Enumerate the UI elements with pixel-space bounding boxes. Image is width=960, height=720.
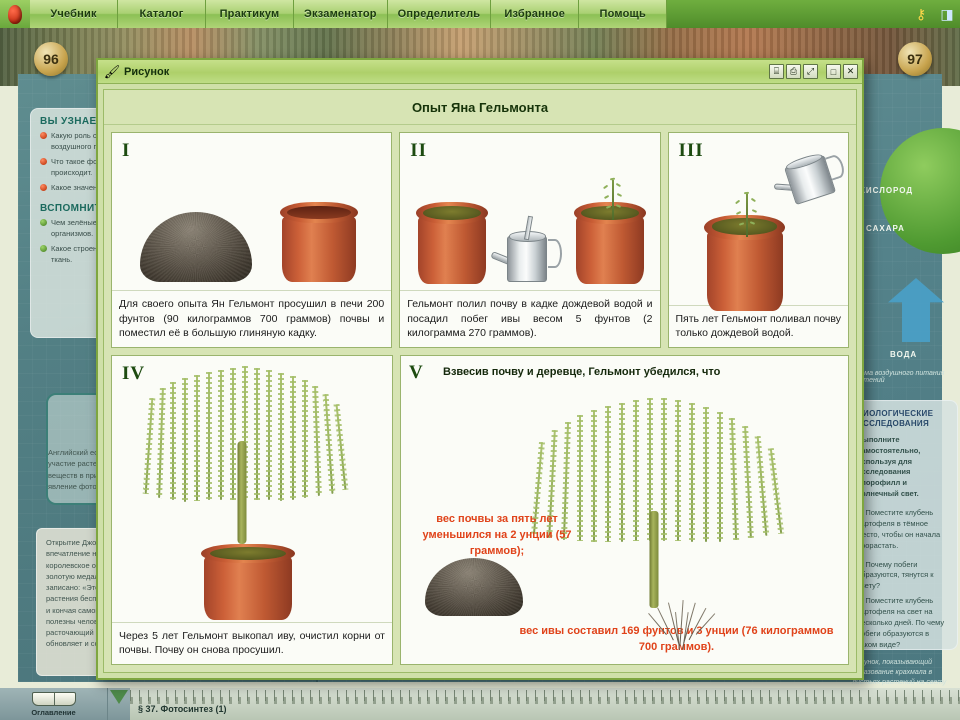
maximize-button[interactable]: □ <box>826 64 841 79</box>
can-handle <box>548 239 562 269</box>
soil-mound-icon <box>140 212 252 282</box>
dialog-title: Рисунок <box>124 66 767 78</box>
bullet-icon <box>40 219 47 226</box>
page-marker[interactable] <box>108 688 130 720</box>
sprout-leaf <box>738 222 743 225</box>
bottom-toolbar: Оглавление § 37. Фотосинтез (1) <box>0 688 960 720</box>
marker-triangle-icon <box>110 690 128 704</box>
sprout-stem <box>746 193 748 237</box>
panel-row-top: I Для своего опыта Ян Гельмонт просушил … <box>111 132 849 348</box>
panel-V-red-left-text: вес почвы за пять лет уменьшился на 2 ун… <box>409 512 585 560</box>
section-label: § 37. Фотосинтез (1) <box>138 704 227 714</box>
pot-soil <box>210 547 286 560</box>
diagram-label-water: ВОДА <box>890 350 917 359</box>
nav-identifier[interactable]: Определитель <box>388 0 492 28</box>
page-number-right: 97 <box>898 42 932 76</box>
sprout-leaf <box>604 195 609 199</box>
willow-canopy <box>136 366 366 491</box>
willow-trunk <box>237 441 246 544</box>
nav-filler <box>667 0 908 28</box>
panel-IV-text: Через 5 лет Гельмонт выкопал иву, очисти… <box>112 622 392 664</box>
panel-numeral: V <box>409 362 443 384</box>
panel-III-text: Пять лет Гельмонт поливал почву только д… <box>669 305 849 347</box>
table-of-contents-button[interactable]: Оглавление <box>0 688 108 720</box>
panel-II: II <box>399 132 660 348</box>
sprout-leaf <box>616 183 621 187</box>
pot-body <box>707 232 783 311</box>
panel-IV: IV <box>111 355 393 665</box>
experiment-panels: I Для своего опыта Ян Гельмонт просушил … <box>111 132 849 665</box>
pot-body <box>576 217 644 284</box>
panel-V-illustration: вес почвы за пять лет уменьшился на 2 ун… <box>401 384 848 622</box>
willow-trunk <box>650 511 659 608</box>
sprout-leaf <box>749 221 754 224</box>
diagram-label-oxygen: КИСЛОРОД <box>860 186 913 195</box>
clay-pot-icon <box>282 202 356 282</box>
page-number-left: 96 <box>34 42 68 76</box>
clay-pot-with-willow-icon <box>576 202 644 284</box>
bullet-icon <box>40 184 47 191</box>
bullet-icon <box>40 132 47 139</box>
research-box: БИОЛОГИЧЕСКИЕ ИССЛЕДОВАНИЯ Выполните сам… <box>848 400 958 650</box>
watering-can-icon <box>765 132 849 211</box>
panel-I-text: Для своего опыта Ян Гельмонт просушил в … <box>112 290 391 347</box>
panel-III: III <box>668 132 850 348</box>
nav-textbook[interactable]: Учебник <box>30 0 118 28</box>
pot-inner <box>287 206 351 220</box>
panel-II-illustration <box>400 133 659 290</box>
book-icon <box>32 692 76 706</box>
sprout-leaf <box>735 211 740 215</box>
panel-V-heading: Взвесив почву и деревце, Гельмонт убедил… <box>443 362 720 378</box>
panel-V-header: V Взвесив почву и деревце, Гельмонт убед… <box>401 356 848 384</box>
page-ruler[interactable]: § 37. Фотосинтез (1) <box>130 688 960 720</box>
page-title: Опыт Яна Гельмонта <box>104 90 856 125</box>
sprout-leaf <box>603 185 608 189</box>
willow-tree-with-roots-icon <box>529 398 801 608</box>
panel-I: I Для своего опыта Ян Гельмонт просушил … <box>111 132 392 348</box>
exit-icon[interactable]: ◨ <box>934 0 960 28</box>
fullscreen-button[interactable]: ⤢ <box>803 64 818 79</box>
sprout-leaf <box>750 197 755 201</box>
sprout-leaf <box>617 193 622 197</box>
willow-sprout-icon <box>600 180 626 220</box>
soil-mound-icon <box>425 558 523 616</box>
sprout-stem <box>612 180 614 220</box>
sprout-leaf <box>743 191 748 193</box>
panel-row-bottom: IV <box>111 355 849 665</box>
panel-numeral: IV <box>122 363 145 385</box>
app-logo[interactable] <box>0 0 30 28</box>
bullet-icon <box>40 158 47 165</box>
ruler-triangles <box>130 697 960 704</box>
toc-label: Оглавление <box>31 708 75 717</box>
research-title: БИОЛОГИЧЕСКИЕ ИССЛЕДОВАНИЯ <box>857 409 949 430</box>
key-icon[interactable]: ⚷ <box>908 0 934 28</box>
sprout-leaf <box>751 209 756 212</box>
panel-numeral: III <box>679 140 704 162</box>
research-line: 2. Почему побеги образуются, тянутся к с… <box>857 560 949 593</box>
panel-numeral: I <box>122 140 130 162</box>
clay-pot-icon <box>204 544 292 620</box>
research-line: 3. Поместите клубень картофеля на свет н… <box>857 596 949 650</box>
research-line: Выполните самостоятельно, используя для … <box>857 435 949 500</box>
panel-V: V Взвесив почву и деревце, Гельмонт убед… <box>400 355 849 665</box>
panel-numeral: II <box>410 140 427 162</box>
sprout-leaf <box>616 205 621 208</box>
willow-roots <box>643 600 723 652</box>
nav-help[interactable]: Помощь <box>579 0 667 28</box>
diagram-label-sugar: САХАРА <box>866 224 905 233</box>
close-button[interactable]: ✕ <box>843 64 858 79</box>
save-button[interactable]: ⌸ <box>769 64 784 79</box>
panel-I-illustration <box>112 133 391 290</box>
clay-pot-with-plant-icon <box>707 215 783 311</box>
nav-examiner[interactable]: Экзаменатор <box>294 0 388 28</box>
dialog-title-bar[interactable]: 🖌 Рисунок ⌸ ⎙ ⤢ □ ✕ <box>98 60 862 84</box>
clay-pot-with-soil-icon <box>418 202 486 284</box>
nav-practicum[interactable]: Практикум <box>206 0 294 28</box>
top-navigation-bar: Учебник Каталог Практикум Экзаменатор Оп… <box>0 0 960 28</box>
watering-can-icon <box>494 210 566 284</box>
dialog-body: Опыт Яна Гельмонта I Для своего оп <box>103 89 857 673</box>
can-body <box>507 236 547 282</box>
apple-logo-icon <box>8 5 22 24</box>
pot-body <box>282 217 356 283</box>
diagram-footer-caption: Рисунок, показывающий образование крахма… <box>852 658 958 688</box>
panel-II-text: Гельмонт полил почву в кадке дождевой во… <box>400 290 659 347</box>
panel-IV-illustration <box>112 356 392 622</box>
sprout-leaf <box>606 206 611 209</box>
pot-body <box>204 557 292 619</box>
research-line: 1. Поместите клубень картофеля в тёмное … <box>857 508 949 552</box>
pot-body <box>418 217 486 284</box>
willow-sprout-icon <box>733 193 761 237</box>
diagram-caption: Схема воздушного питания растений <box>852 370 956 384</box>
picture-dialog-window: 🖌 Рисунок ⌸ ⎙ ⤢ □ ✕ Опыт Яна Гельмонта I <box>96 58 864 680</box>
bullet-icon <box>40 245 47 252</box>
willow-tree-icon <box>136 366 366 544</box>
paint-brush-icon: 🖌 <box>102 64 122 80</box>
nav-catalog[interactable]: Каталог <box>118 0 206 28</box>
print-button[interactable]: ⎙ <box>786 64 801 79</box>
pot-soil <box>423 206 481 220</box>
nav-favorites[interactable]: Избранное <box>491 0 579 28</box>
panel-V-red-bottom-text: вес ивы составил 169 фунтов и 3 унции (7… <box>401 622 848 664</box>
sprout-leaf <box>735 199 740 203</box>
